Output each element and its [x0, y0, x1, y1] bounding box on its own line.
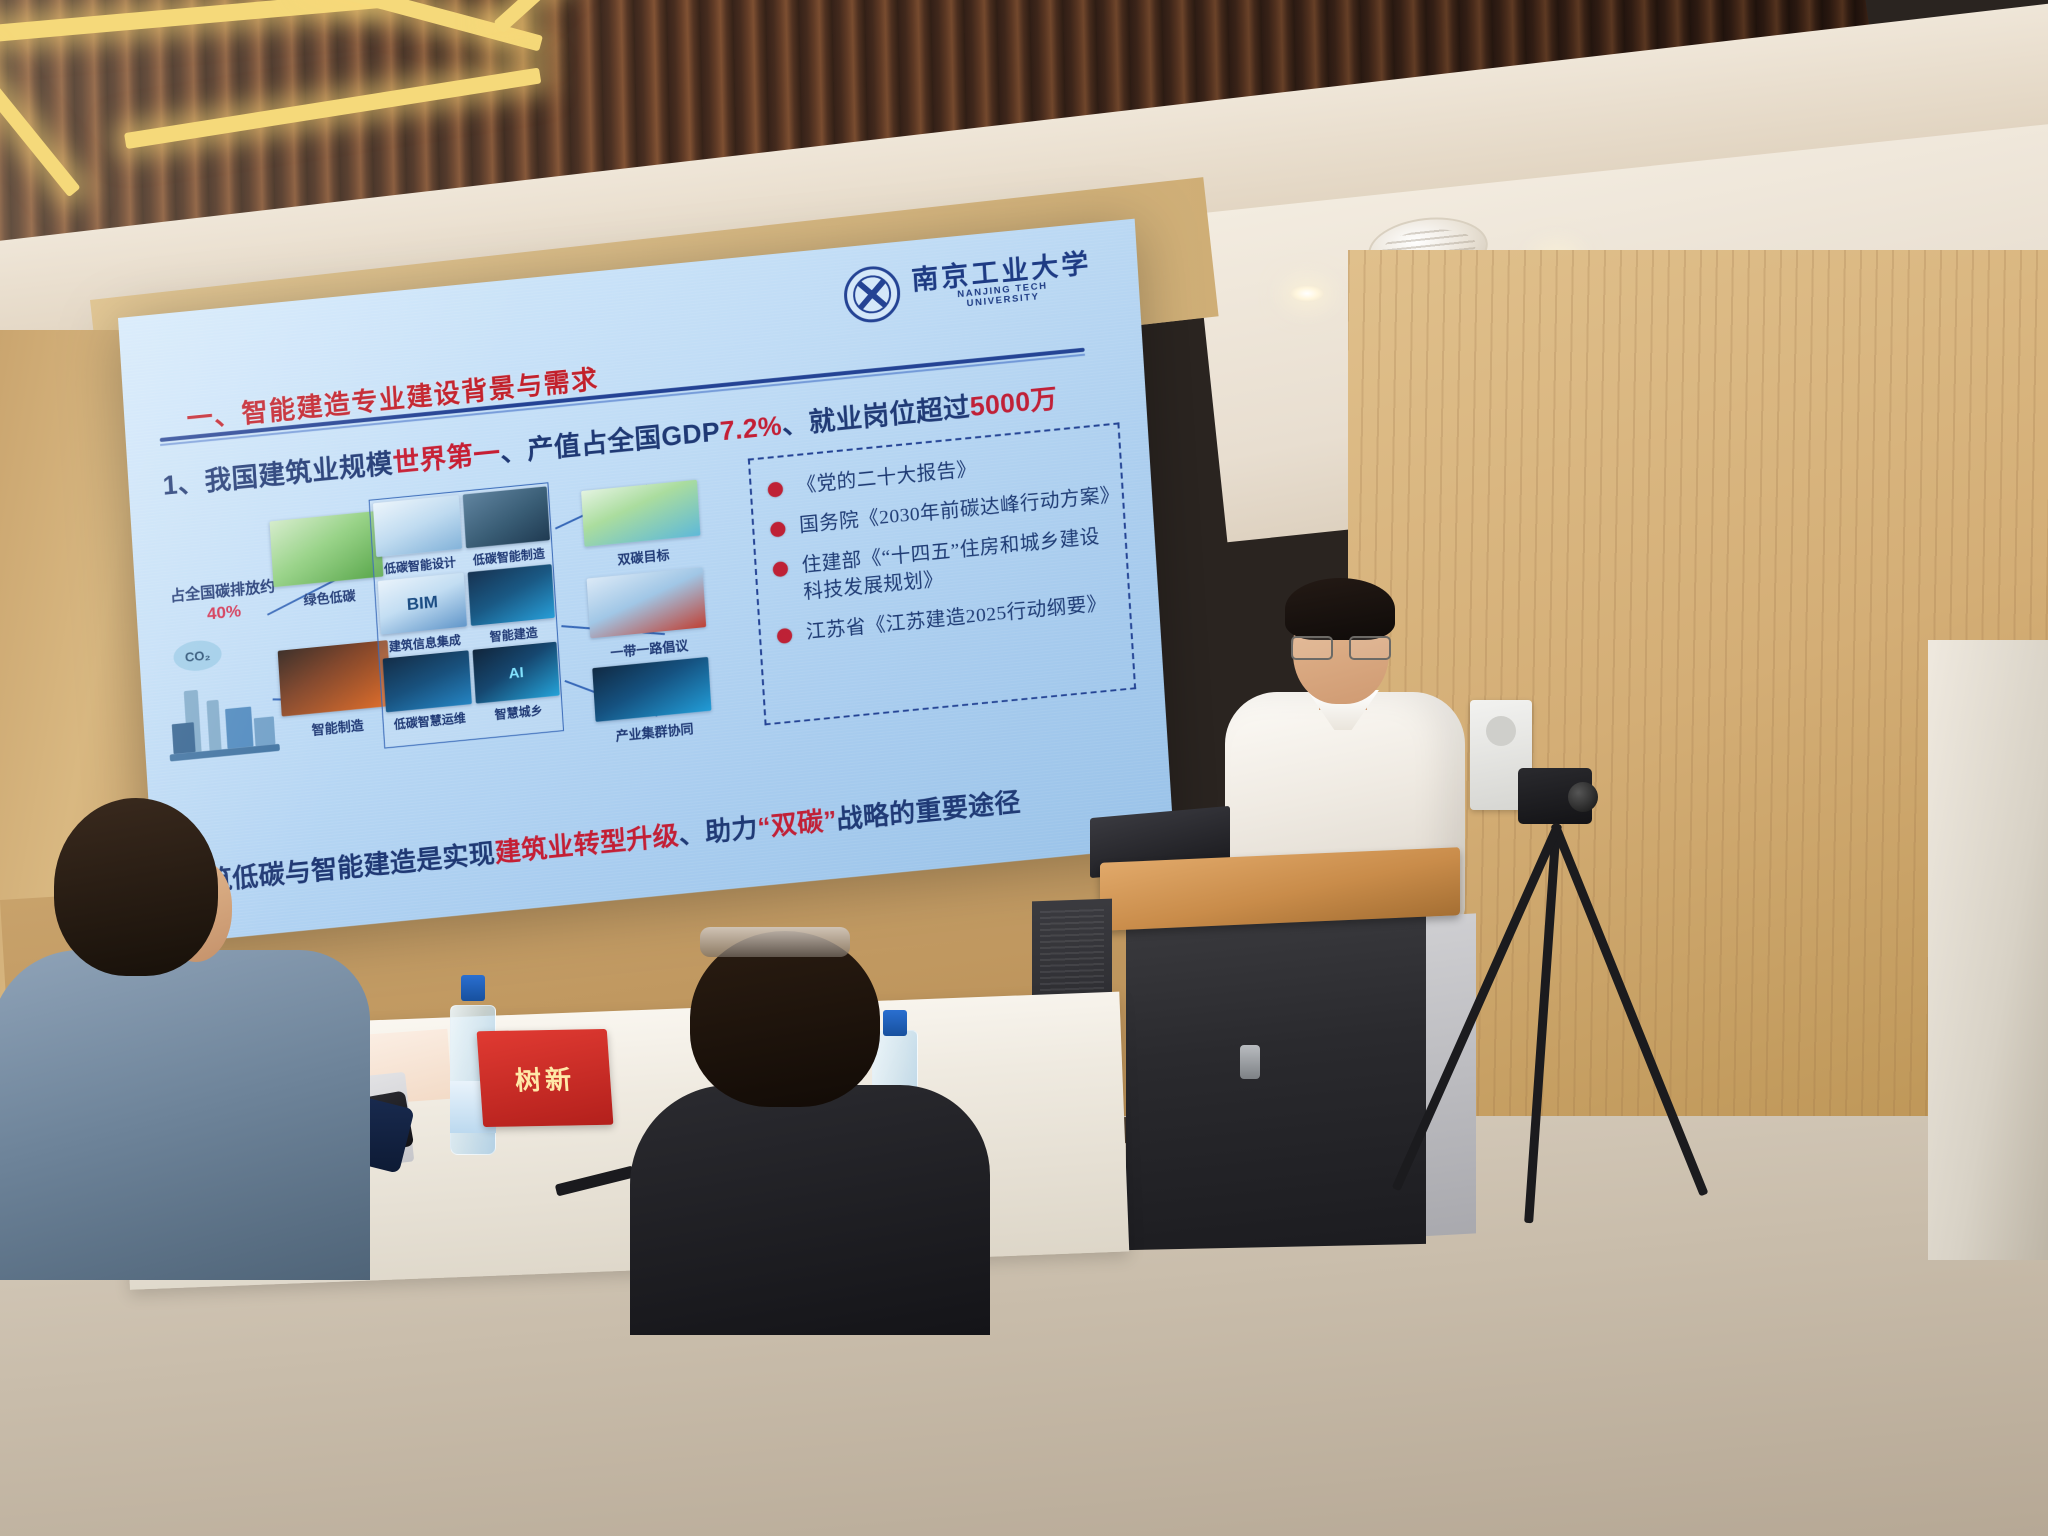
- bim-text-icon: BIM: [406, 592, 438, 615]
- nameplate-text: 树新: [477, 1029, 614, 1127]
- audience-person-center: [640, 905, 970, 1245]
- carbon-emission-value: 40%: [206, 601, 241, 623]
- point1-highlight-gdp: 7.2%: [719, 410, 783, 446]
- point1-mid: 、产值占全国GDP: [499, 416, 721, 467]
- speaker-hair: [1285, 578, 1395, 640]
- policy-documents-box: 《党的二十大报告》 国务院《2030年前碳达峰行动方案》 住建部《“十四五”住房…: [748, 422, 1136, 725]
- belt-and-road-image: [587, 567, 707, 638]
- dual-carbon-goal-image: [581, 480, 700, 547]
- audience-person-left: [10, 790, 340, 1240]
- university-seal-icon: [842, 264, 901, 325]
- audience-left-head: [54, 798, 218, 976]
- bullet-dot-icon: [770, 521, 786, 537]
- label-intelligent-manufacturing: 智能制造: [282, 712, 393, 742]
- audience-center-shirt: [630, 1085, 990, 1335]
- wall-pillar-right: [1928, 640, 2048, 1260]
- policy-document-text: 《党的二十大报告》: [796, 456, 977, 500]
- bullet-dot-icon: [777, 627, 793, 643]
- camera-tripod: [1430, 740, 1690, 1240]
- tripod-leg: [1550, 822, 1708, 1196]
- university-logo: 南京工业大学 NANJING TECH UNIVERSITY: [842, 245, 1093, 325]
- label-green-low-carbon: 绿色低碳: [274, 582, 385, 612]
- carbon-emission-text: 占全国碳排放约: [170, 578, 276, 605]
- industry-cluster-image: [592, 657, 711, 722]
- conclusion-red-transform: 建筑业转型升级: [494, 820, 680, 868]
- podium-lock-icon: [1240, 1045, 1260, 1079]
- downlight-icon: [1290, 285, 1324, 302]
- led-bar-segment: [124, 68, 541, 150]
- slide-diagram: 占全国碳排放约 40% CO₂: [141, 457, 769, 815]
- smokestack-icon: [206, 700, 221, 751]
- slide-section-title: 一、智能建造专业建设背景与需求: [185, 359, 599, 436]
- low-carbon-ops-image: [383, 650, 472, 712]
- conclusion-part2: 、助力: [678, 812, 759, 850]
- desk-nameplate: 树新: [477, 1029, 614, 1127]
- audience-left-shirt: [0, 950, 370, 1280]
- bullet-dot-icon: [772, 561, 788, 577]
- conclusion-part3: 战略的重要途径: [836, 787, 1022, 835]
- factory-building: [254, 716, 276, 746]
- logo-text-block: 南京工业大学 NANJING TECH UNIVERSITY: [911, 249, 1094, 315]
- co2-factory-illustration: CO₂: [163, 633, 280, 761]
- bottle-cap: [461, 975, 485, 1001]
- intelligent-manufacturing-image: [278, 640, 392, 716]
- speaker-glasses-icon: [1289, 636, 1393, 656]
- led-bar-segment: [0, 56, 81, 198]
- carbon-emission-label: 占全国碳排放约 40%: [157, 577, 289, 630]
- led-bar-segment: [0, 0, 380, 45]
- audience-center-head: [690, 931, 880, 1107]
- bullet-dot-icon: [767, 481, 783, 497]
- ai-text-icon: AI: [508, 663, 524, 681]
- factory-building: [172, 722, 196, 754]
- conclusion-red-dual-carbon: “双碳”: [757, 805, 838, 843]
- intelligent-construction-image: [468, 564, 555, 626]
- lectern-podium: [1100, 855, 1460, 1255]
- label-dual-carbon-goal: 双碳目标: [585, 541, 702, 571]
- point1-highlight-world-first: 世界第一: [392, 438, 501, 478]
- smart-city-image: AI: [473, 642, 560, 704]
- bim-integration-image: BIM: [378, 573, 467, 635]
- point1-highlight-jobs: 5000万: [969, 384, 1058, 422]
- low-carbon-manufacturing-image: [463, 486, 550, 548]
- factory-building: [225, 707, 253, 749]
- audience-center-glasses-icon: [700, 927, 850, 957]
- podium-body: [1126, 914, 1426, 1250]
- conference-room: 南京工业大学 NANJING TECH UNIVERSITY 一、智能建造专业建…: [0, 0, 2048, 1536]
- video-camera-icon: [1518, 768, 1592, 824]
- co2-bubble-icon: CO₂: [173, 638, 223, 673]
- green-low-carbon-image: [269, 511, 383, 587]
- low-carbon-design-image: [373, 495, 462, 557]
- point1-mid2: 、就业岗位超过: [781, 392, 971, 440]
- point1-prefix: 1、我国建筑业规模: [162, 448, 394, 500]
